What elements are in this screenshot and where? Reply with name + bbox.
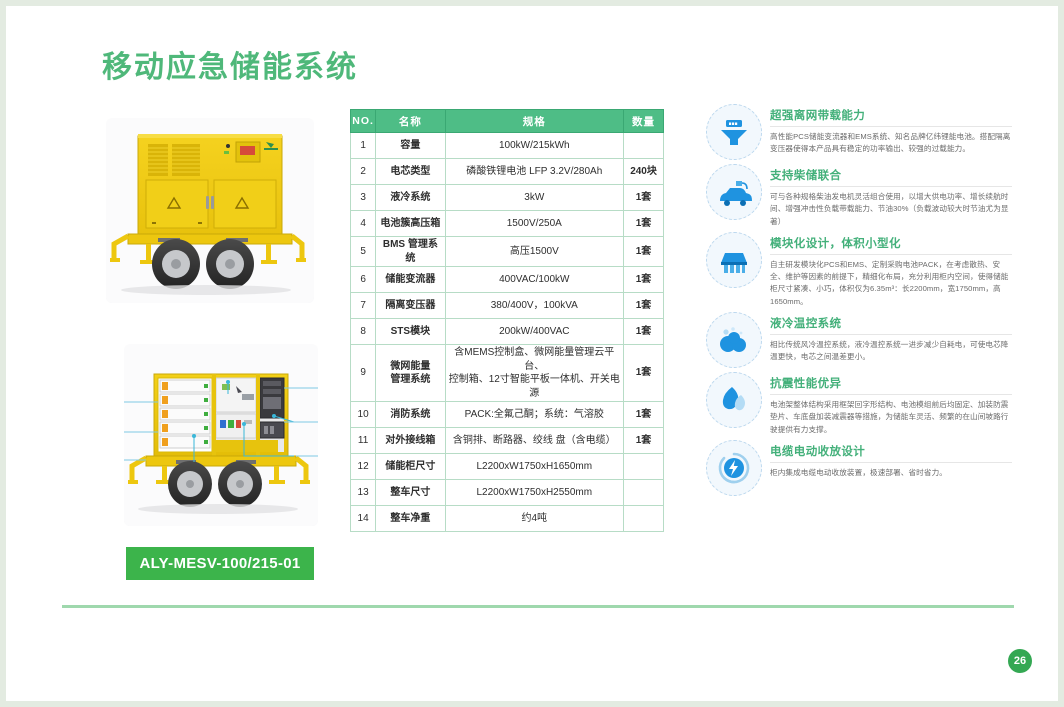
cell-no: 11 [351,428,376,454]
cell-name: 整车尺寸 [376,480,445,506]
page-title: 移动应急储能系统 [102,42,358,86]
feature-description: 高性能PCS储能变流器和EMS系统、知名品牌亿纬锂能电池。搭配隔离变压器使得本产… [770,131,1012,156]
cell-name: 储能变流器 [376,267,445,293]
cell-name: 储能柜尺寸 [376,454,445,480]
feature-title: 模块化设计，体积小型化 [770,235,1012,251]
cell-no: 14 [351,506,376,532]
table-row: 10消防系统PACK:全氟己酮；系统：气溶胶1套 [351,402,664,428]
cell-no: 8 [351,319,376,345]
cell-name: 电池簇高压箱 [376,211,445,237]
cell-qty [624,506,664,532]
cell-name: 对外接线箱 [376,428,445,454]
specification-table: NO. 名称 规格 数量 1容量100kW/215kWh2电芯类型磷酸铁锂电池 … [350,109,664,532]
cell-qty [624,454,664,480]
cell-qty: 1套 [624,402,664,428]
cell-no: 7 [351,293,376,319]
feature-title: 电缆电动收放设计 [770,443,1012,459]
table-header-row: NO. 名称 规格 数量 [351,110,664,133]
cell-spec: L2200xW1750xH1650mm [445,454,624,480]
cell-spec: 含MEMS控制盒、微网能量管理云平台、控制箱、12寸智能平板一体机、开关电源 [445,345,624,402]
feature-description: 电池架整体结构采用框架回字形结构、电池模组前后均固定、加装防震垫片、车底盘加装减… [770,399,1012,436]
feature-description: 可与各种规格柴油发电机灵活组合使用，以增大供电功率、增长续航时间、增强冲击性负载… [770,191,1012,228]
cell-spec: L2200xW1750xH2550mm [445,480,624,506]
cell-qty [624,480,664,506]
cell-spec: 高压1500V [445,237,624,267]
cell-spec: PACK:全氟己酮；系统：气溶胶 [445,402,624,428]
cell-name: 容量 [376,133,445,159]
table-row: 1容量100kW/215kWh [351,133,664,159]
feature-item-diesel-hybrid: 支持柴储联合 可与各种规格柴油发电机灵活组合使用，以增大供电功率、增长续航时间、… [706,164,1012,228]
table-row: 14整车净重约4吨 [351,506,664,532]
header-no: NO. [351,110,376,133]
cell-no: 3 [351,185,376,211]
table-row: 7隔离变压器380/400V，100kVA1套 [351,293,664,319]
feature-description: 相比传统风冷温控系统，液冷温控系统一进步减少自耗电，可使电芯降温更快，电芯之间温… [770,339,1012,364]
feature-divider [770,334,1012,335]
table-row: 12储能柜尺寸L2200xW1750xH1650mm [351,454,664,480]
cell-qty: 1套 [624,319,664,345]
cell-qty: 1套 [624,237,664,267]
cell-qty: 1套 [624,185,664,211]
header-qty: 数量 [624,110,664,133]
cell-qty: 1套 [624,293,664,319]
cell-name: 液冷系统 [376,185,445,211]
cell-no: 12 [351,454,376,480]
table-row: 8STS模块200kW/400VAC1套 [351,319,664,345]
feature-list: 超强离网带载能力 高性能PCS储能变流器和EMS系统、知名品牌亿纬锂能电池。搭配… [706,104,1012,500]
cell-no: 1 [351,133,376,159]
feature-item-offgrid: 超强离网带载能力 高性能PCS储能变流器和EMS系统、知名品牌亿纬锂能电池。搭配… [706,104,1012,160]
feature-divider [770,126,1012,127]
page-number-badge: 26 [1008,649,1032,673]
feature-title: 液冷温控系统 [770,315,1012,331]
feature-title: 超强离网带载能力 [770,107,1012,123]
cell-qty: 1套 [624,267,664,293]
feature-description: 自主研发模块化PCS和EMS、定制采购电池PACK，在考虑散热、安全、维护等因素… [770,259,1012,308]
cell-name: 微网能量管理系统 [376,345,445,402]
table-row: 2电芯类型磷酸铁锂电池 LFP 3.2V/280Ah240块 [351,159,664,185]
feature-divider [770,254,1012,255]
table-row: 3液冷系统3kW1套 [351,185,664,211]
cell-qty: 240块 [624,159,664,185]
feature-item-anti-vibration: 抗震性能优异 电池架整体结构采用框架回字形结构、电池模组前后均固定、加装防震垫片… [706,372,1012,436]
cell-name: 隔离变压器 [376,293,445,319]
product-image-closed [106,118,314,303]
feature-title: 支持柴储联合 [770,167,1012,183]
table-row: 13整车尺寸L2200xW1750xH2550mm [351,480,664,506]
table-row: 5BMS 管理系统高压1500V1套 [351,237,664,267]
shock-absorb-leaf-icon [706,372,762,428]
cell-no: 4 [351,211,376,237]
cell-qty: 1套 [624,428,664,454]
table-row: 11对外接线箱含铜排、断路器、绞线 盘（含电缆）1套 [351,428,664,454]
cell-spec: 3kW [445,185,624,211]
product-image-open [124,344,318,526]
table-row: 4电池簇高压箱1500V/250A1套 [351,211,664,237]
header-name: 名称 [376,110,445,133]
feature-divider [770,394,1012,395]
cell-spec: 1500V/250A [445,211,624,237]
slide-page: 移动应急储能系统 [0,0,1064,707]
cell-qty: 1套 [624,211,664,237]
cell-spec: 磷酸铁锂电池 LFP 3.2V/280Ah [445,159,624,185]
feature-divider [770,462,1012,463]
liquid-cooling-cloud-icon [706,312,762,368]
feature-divider [770,186,1012,187]
cell-no: 2 [351,159,376,185]
trailer-open-illustration [124,344,318,526]
cell-qty: 1套 [624,345,664,402]
cell-no: 9 [351,345,376,402]
feature-item-cable-reel: 电缆电动收放设计 柜内集成电缆电动收放装置，极速部署、省时省力。 [706,440,1012,496]
cell-qty [624,133,664,159]
cell-spec: 380/400V，100kVA [445,293,624,319]
cell-spec: 含铜排、断路器、绞线 盘（含电缆） [445,428,624,454]
cell-name: 消防系统 [376,402,445,428]
ev-charging-car-icon [706,164,762,220]
feature-description: 柜内集成电缆电动收放装置，极速部署、省时省力。 [770,467,1012,479]
cell-name: STS模块 [376,319,445,345]
header-spec: 规格 [445,110,624,133]
top-strip [6,6,1058,10]
cell-spec: 400VAC/100kW [445,267,624,293]
feature-item-liquid-cooling: 液冷温控系统 相比传统风冷温控系统，液冷温控系统一进步减少自耗电，可使电芯降温更… [706,312,1012,368]
trailer-closed-illustration [106,118,314,303]
cell-no: 13 [351,480,376,506]
table-row: 9微网能量管理系统含MEMS控制盒、微网能量管理云平台、控制箱、12寸智能平板一… [351,345,664,402]
footer-divider [62,605,1014,608]
cell-name: 整车净重 [376,506,445,532]
table-row: 6储能变流器400VAC/100kW1套 [351,267,664,293]
cell-spec: 约4吨 [445,506,624,532]
cable-reel-bolt-icon [706,440,762,496]
cell-name: BMS 管理系统 [376,237,445,267]
feature-title: 抗震性能优异 [770,375,1012,391]
cell-no: 10 [351,402,376,428]
cell-name: 电芯类型 [376,159,445,185]
model-label: ALY-MESV-100/215-01 [126,547,314,580]
cell-no: 5 [351,237,376,267]
feature-item-modular: 模块化设计，体积小型化 自主研发模块化PCS和EMS、定制采购电池PACK，在考… [706,232,1012,308]
module-stack-icon [706,232,762,288]
cell-no: 6 [351,267,376,293]
battery-funnel-icon [706,104,762,160]
cell-spec: 100kW/215kWh [445,133,624,159]
cell-spec: 200kW/400VAC [445,319,624,345]
